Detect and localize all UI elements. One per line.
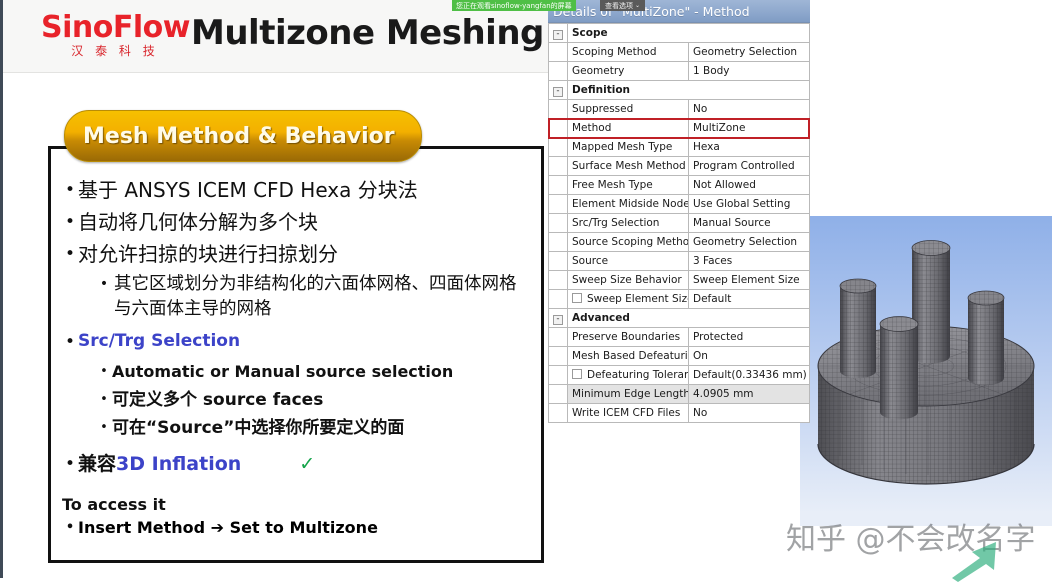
property-name: Surface Mesh Method [568,157,689,176]
property-name: Minimum Edge Length [568,385,689,404]
property-name: Write ICEM CFD Files [568,404,689,423]
property-name: Element Midside Nodes [568,195,689,214]
property-value[interactable]: 3 Faces [689,252,810,271]
list-item-label: 自动将几何体分解为多个块 [78,208,318,236]
property-value[interactable]: On [689,347,810,366]
property-name: Defeaturing Tolerance [568,366,689,385]
meshed-cylinder-model [800,216,1052,526]
row-gutter [549,385,568,404]
check-icon: ✓ [299,450,315,478]
inflation-prefix: 兼容 [78,450,116,478]
bullet-icon: • [62,240,78,268]
list-item: • 基于 ANSYS ICEM CFD Hexa 分块法 [62,176,530,204]
property-name: Src/Trg Selection [568,214,689,233]
table-row[interactable]: Surface Mesh MethodProgram Controlled [549,157,810,176]
row-gutter [549,290,568,309]
screen-share-banner: 您正在观看sinoflow-yangfan的屏幕 [452,0,576,11]
property-name: Free Mesh Type [568,176,689,195]
property-name: Mesh Based Defeaturing [568,347,689,366]
access-step-label: Insert Method ➔ Set to Multizone [78,516,378,540]
share-options-button[interactable]: 查看选项 ⌄ [600,0,645,11]
property-name: Source [568,252,689,271]
row-gutter [549,119,568,138]
minus-icon: - [553,30,563,40]
properties-section-header: -Definition [549,81,810,100]
property-value[interactable]: Default(0.33436 mm) [689,366,810,385]
property-value[interactable]: Use Global Setting [689,195,810,214]
bullet-icon: • [96,416,112,440]
window-left-edge [0,0,3,578]
list-item: • Automatic or Manual source selection [96,360,530,384]
table-row[interactable]: Free Mesh TypeNot Allowed [549,176,810,195]
property-name: Mapped Mesh Type [568,138,689,157]
mesh-viewport[interactable] [800,216,1052,526]
row-gutter [549,176,568,195]
list-item-src-trg: • Src/Trg Selection [62,328,530,356]
property-value[interactable]: Not Allowed [689,176,810,195]
row-gutter [549,195,568,214]
row-gutter [549,138,568,157]
table-row[interactable]: Mapped Mesh TypeHexa [549,138,810,157]
properties-section-header: -Advanced [549,309,810,328]
properties-section-header: -Scope [549,24,810,43]
slide-root: SinoFlow 汉 泰 科 技 Multizone Meshing (1) 您… [0,0,1064,578]
property-value[interactable]: No [689,404,810,423]
property-name: Sweep Size Behavior [568,271,689,290]
list-item-label: 其它区域划分为非结构化的六面体网格、四面体网格与六面体主导的网格 [114,272,530,322]
row-gutter [549,347,568,366]
section-header-label: Advanced [568,309,810,328]
row-gutter [549,252,568,271]
bullet-icon: • [96,272,112,297]
minus-icon: - [553,87,563,97]
section-header-label: Definition [568,81,810,100]
list-item-label: 基于 ANSYS ICEM CFD Hexa 分块法 [78,176,418,204]
property-name: Sweep Element Size [568,290,689,309]
bullet-icon: • [62,328,78,356]
property-name: Method [568,119,689,138]
share-options-label: 查看选项 [605,1,633,11]
table-row[interactable]: Geometry1 Body [549,62,810,81]
page-title: Multizone Meshing (1) [191,13,608,53]
properties-table: -ScopeScoping MethodGeometry SelectionGe… [548,23,810,423]
minus-icon: - [553,315,563,325]
property-value[interactable]: Manual Source [689,214,810,233]
table-row[interactable]: Write ICEM CFD FilesNo [549,404,810,423]
row-gutter [549,328,568,347]
table-row[interactable]: Element Midside NodesUse Global Setting [549,195,810,214]
list-item-label: 可定义多个 source faces [112,388,323,412]
list-item: • 对允许扫掠的块进行扫掠划分 [62,240,530,268]
list-item: • 可定义多个 source faces [96,388,530,412]
row-gutter [549,271,568,290]
table-row[interactable]: Mesh Based DefeaturingOn [549,347,810,366]
property-value[interactable]: No [689,100,810,119]
row-gutter [549,233,568,252]
section-header-label: Scope [568,24,810,43]
table-row[interactable]: Sweep Element SizeDefault [549,290,810,309]
property-value[interactable]: Protected [689,328,810,347]
details-panel-title: Details of "MultiZone" - Method [548,0,810,23]
section-expander[interactable]: - [549,81,568,100]
row-gutter [549,100,568,119]
list-item: • 自动将几何体分解为多个块 [62,208,530,236]
bullet-list: • 基于 ANSYS ICEM CFD Hexa 分块法 • 自动将几何体分解为… [62,176,530,482]
property-name: Scoping Method [568,43,689,62]
table-row[interactable]: Defeaturing ToleranceDefault(0.33436 mm) [549,366,810,385]
property-name: Preserve Boundaries [568,328,689,347]
property-name: Geometry [568,62,689,81]
table-row[interactable]: Source3 Faces [549,252,810,271]
list-item-label: 可在“Source”中选择你所要定义的面 [112,416,404,440]
table-row[interactable]: MethodMultiZone [549,119,810,138]
row-gutter [549,214,568,233]
list-item: • 其它区域划分为非结构化的六面体网格、四面体网格与六面体主导的网格 [96,272,530,322]
property-value[interactable]: 4.0905 mm [689,385,810,404]
logo-sub-text: 汉 泰 科 技 [41,44,189,58]
checkbox-icon[interactable] [572,293,582,303]
list-item-inflation: • 兼容 3D Inflation ✓ [62,450,530,478]
property-value[interactable]: 1 Body [689,62,810,81]
section-badge: Mesh Method & Behavior [64,110,422,162]
list-item: • 可在“Source”中选择你所要定义的面 [96,416,530,440]
sinoflow-logo: SinoFlow 汉 泰 科 技 [41,12,189,58]
bullet-icon: • [62,516,78,540]
screen-share-text: 您正在观看sinoflow-yangfan的屏幕 [456,1,572,11]
bullet-icon: • [62,208,78,236]
property-name: Suppressed [568,100,689,119]
bullet-icon: • [96,360,112,384]
logo-main-text: SinoFlow [41,12,189,44]
bullet-icon: • [62,176,78,204]
table-row[interactable]: SuppressedNo [549,100,810,119]
row-gutter [549,366,568,385]
table-row[interactable]: Source Scoping MethodGeometry Selection [549,233,810,252]
section-expander[interactable]: - [549,24,568,43]
access-step: • Insert Method ➔ Set to Multizone [62,516,502,540]
bullet-icon: • [62,450,78,478]
property-value[interactable]: Hexa [689,138,810,157]
section-badge-label: Mesh Method & Behavior [83,124,395,149]
inflation-label: 3D Inflation [116,450,241,478]
details-panel: Details of "MultiZone" - Method -ScopeSc… [548,0,810,423]
list-item-label: Src/Trg Selection [78,328,240,354]
bullet-icon: • [96,388,112,412]
property-value[interactable]: Default [689,290,810,309]
property-value[interactable]: Geometry Selection [689,233,810,252]
table-row[interactable]: Src/Trg SelectionManual Source [549,214,810,233]
arrow-icon [946,538,1004,582]
list-item-label: 对允许扫掠的块进行扫掠划分 [78,240,338,268]
property-value[interactable]: MultiZone [689,119,810,138]
access-instructions: To access it • Insert Method ➔ Set to Mu… [62,494,502,540]
section-expander[interactable]: - [549,309,568,328]
row-gutter [549,157,568,176]
access-title: To access it [62,494,502,516]
table-row[interactable]: Scoping MethodGeometry Selection [549,43,810,62]
list-item-label: Automatic or Manual source selection [112,360,453,384]
property-value[interactable]: Program Controlled [689,157,810,176]
row-gutter [549,62,568,81]
checkbox-icon[interactable] [572,369,582,379]
chevron-down-icon: ⌄ [635,3,640,9]
table-row[interactable]: Sweep Size BehaviorSweep Element Size [549,271,810,290]
table-row[interactable]: Minimum Edge Length4.0905 mm [549,385,810,404]
row-gutter [549,404,568,423]
row-gutter [549,43,568,62]
table-row[interactable]: Preserve BoundariesProtected [549,328,810,347]
property-value[interactable]: Geometry Selection [689,43,810,62]
property-name: Source Scoping Method [568,233,689,252]
property-value[interactable]: Sweep Element Size [689,271,810,290]
